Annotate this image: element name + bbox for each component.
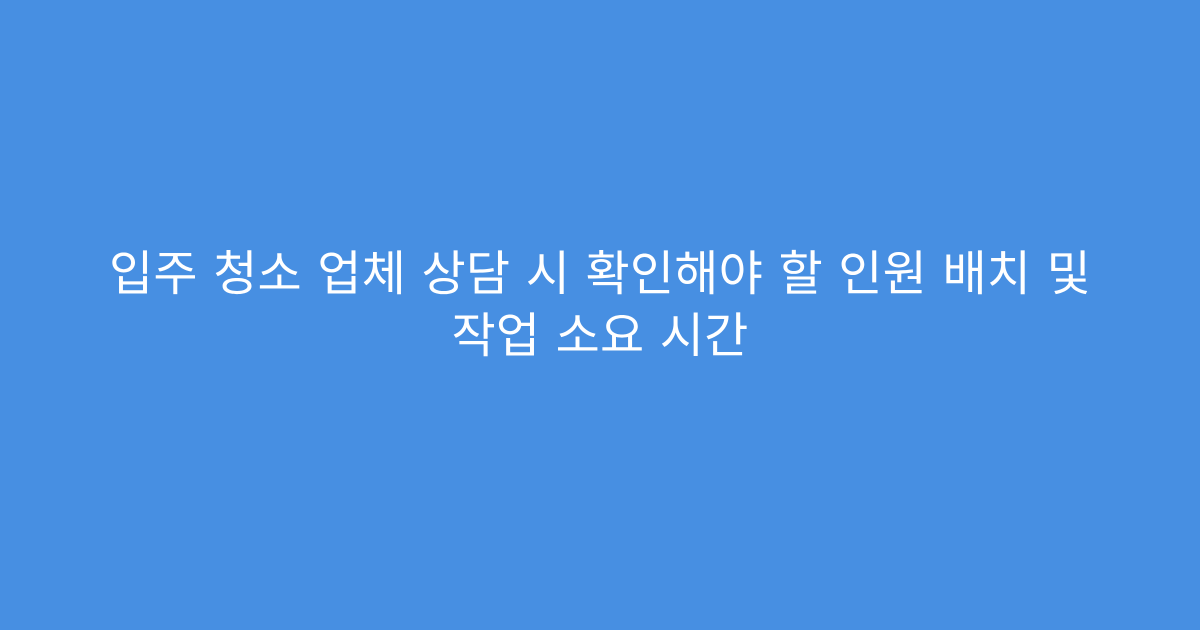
page-title: 입주 청소 업체 상담 시 확인해야 할 인원 배치 및 작업 소요 시간	[70, 243, 1130, 367]
thumbnail-card: 입주 청소 업체 상담 시 확인해야 할 인원 배치 및 작업 소요 시간	[0, 0, 1200, 630]
headline-block: 입주 청소 업체 상담 시 확인해야 할 인원 배치 및 작업 소요 시간	[70, 243, 1130, 367]
